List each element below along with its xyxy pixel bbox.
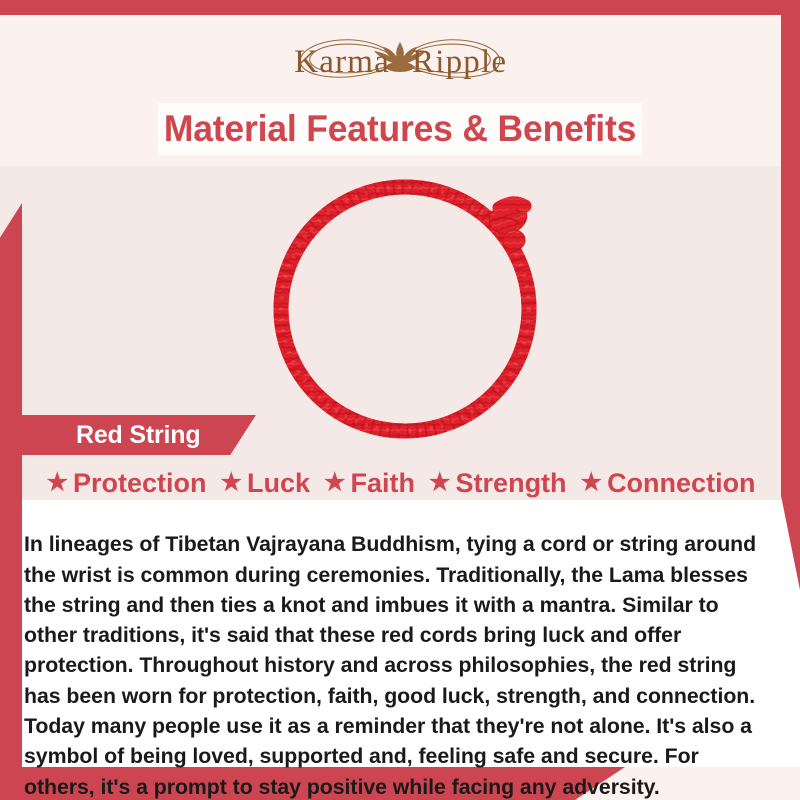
feature-item-luck: ★ Luck [220,468,310,499]
feature-item-strength: ★ Strength [429,468,567,499]
lotus-flourish-logo-icon: Karma Ripple [240,30,560,92]
decorative-top-bar [0,0,800,15]
feature-label: Connection [607,468,756,499]
decorative-left-band [0,203,22,781]
infographic-card: Karma Ripple Material Features & Benefit… [0,0,800,800]
feature-label: Strength [456,468,567,499]
material-label-banner: Red String [22,415,256,455]
page-title-box: Material Features & Benefits [158,103,642,155]
feature-item-faith: ★ Faith [324,468,415,499]
brand-logo: Karma Ripple [0,30,800,92]
red-string-bracelet-icon [262,168,562,443]
feature-label: Luck [247,468,310,499]
feature-item-protection: ★ Protection [46,468,206,499]
star-icon: ★ [46,471,68,495]
features-list: ★ Protection ★ Luck ★ Faith ★ Strength ★… [22,464,780,502]
brand-name-right: Ripple [412,44,507,80]
brand-name-left: Karma [294,44,390,80]
star-icon: ★ [429,471,451,495]
page-title: Material Features & Benefits [164,108,636,150]
star-icon: ★ [324,471,346,495]
feature-item-connection: ★ Connection [581,468,756,499]
feature-label: Protection [73,468,207,499]
star-icon: ★ [581,471,603,495]
feature-label: Faith [351,468,416,499]
description-paragraph: In lineages of Tibetan Vajrayana Buddhis… [24,529,768,800]
material-label-text: Red String [22,421,200,450]
star-icon: ★ [220,471,242,495]
product-image [262,168,562,443]
